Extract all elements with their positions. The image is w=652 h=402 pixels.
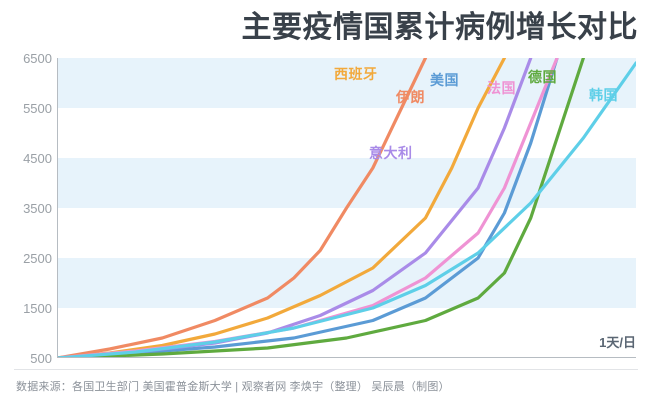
y-axis-tick-label: 1500 bbox=[2, 302, 52, 315]
plot-area bbox=[57, 58, 636, 358]
series-label-意大利: 意大利 bbox=[369, 146, 413, 160]
series-label-伊朗: 伊朗 bbox=[396, 90, 425, 104]
series-label-美国: 美国 bbox=[430, 73, 459, 87]
series-label-西班牙: 西班牙 bbox=[334, 67, 378, 81]
y-axis-tick-label: 5500 bbox=[2, 102, 52, 115]
series-label-德国: 德国 bbox=[528, 70, 557, 84]
y-axis-tick-label: 3500 bbox=[2, 202, 52, 215]
y-axis-tick-labels: 500150025003500450055006500 bbox=[0, 0, 52, 402]
chart-page: 主要疫情国累计病例增长对比 50015002500350045005500650… bbox=[0, 0, 652, 402]
y-axis-tick-label: 500 bbox=[2, 352, 52, 365]
background-bands bbox=[58, 58, 636, 308]
footer-source-text: 数据来源：各国卫生部门 美国霍普金斯大学 | 观察者网 李焕宇（整理） 吴辰晨（… bbox=[16, 378, 450, 394]
y-axis-tick-label: 2500 bbox=[2, 252, 52, 265]
page-title: 主要疫情国累计病例增长对比 bbox=[0, 9, 638, 47]
y-axis-tick-label: 6500 bbox=[2, 52, 52, 65]
x-unit-label: 1天/日 bbox=[599, 332, 636, 351]
y-axis-tick-label: 4500 bbox=[2, 152, 52, 165]
footer-divider bbox=[14, 369, 638, 370]
series-label-韩国: 韩国 bbox=[589, 88, 618, 102]
line-chart-svg bbox=[57, 58, 636, 358]
series-label-法国: 法国 bbox=[487, 81, 516, 95]
